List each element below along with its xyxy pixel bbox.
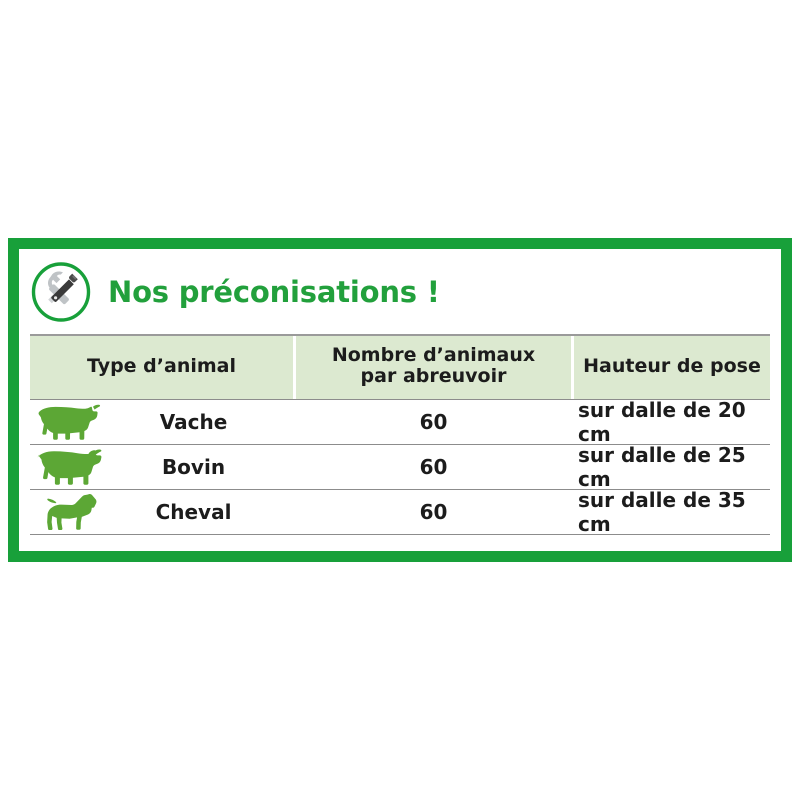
panel-header: Nos préconisations ! [19,249,781,334]
column-header-animals-per-trough-line2: par abreuvoir [332,366,535,387]
column-header-animal-type-label: Type d’animal [87,356,236,377]
column-header-mounting-height-label: Hauteur de pose [583,356,761,377]
page-title: Nos préconisations ! [108,275,440,309]
animal-name: Bovin [108,455,289,479]
bull-icon [30,447,108,487]
cell-animals-per-trough: 60 [296,400,571,444]
cell-animals-per-trough: 60 [296,445,571,489]
recommendations-table: Type d’animal Nombre d’animaux par abreu… [30,334,770,535]
table-row: Bovin 60 sur dalle de 25 cm [30,444,770,489]
recommendations-panel: Nos préconisations ! Type d’animal Nombr… [8,238,792,562]
cell-animal-type: Vache [30,400,293,444]
animal-name: Vache [108,410,289,434]
cell-mounting-height: sur dalle de 20 cm [574,400,770,444]
cow-icon [30,402,108,442]
cell-mounting-height: sur dalle de 25 cm [574,445,770,489]
cell-animals-per-trough: 60 [296,490,571,534]
column-header-animals-per-trough-line1: Nombre d’animaux [332,345,535,366]
column-header-animals-per-trough: Nombre d’animaux par abreuvoir [296,336,571,399]
table-header-row: Type d’animal Nombre d’animaux par abreu… [30,334,770,399]
tools-wrench-screwdriver-icon [30,261,92,323]
cell-mounting-height: sur dalle de 35 cm [574,490,770,534]
column-header-animal-type: Type d’animal [30,336,293,399]
cell-animal-type: Bovin [30,445,293,489]
table-row: Vache 60 sur dalle de 20 cm [30,399,770,444]
column-header-mounting-height: Hauteur de pose [574,336,770,399]
cell-animal-type: Cheval [30,490,293,534]
table-row: Cheval 60 sur dalle de 35 cm [30,489,770,535]
animal-name: Cheval [108,500,289,524]
column-header-animals-per-trough-label: Nombre d’animaux par abreuvoir [332,345,535,388]
horse-icon [30,492,108,532]
